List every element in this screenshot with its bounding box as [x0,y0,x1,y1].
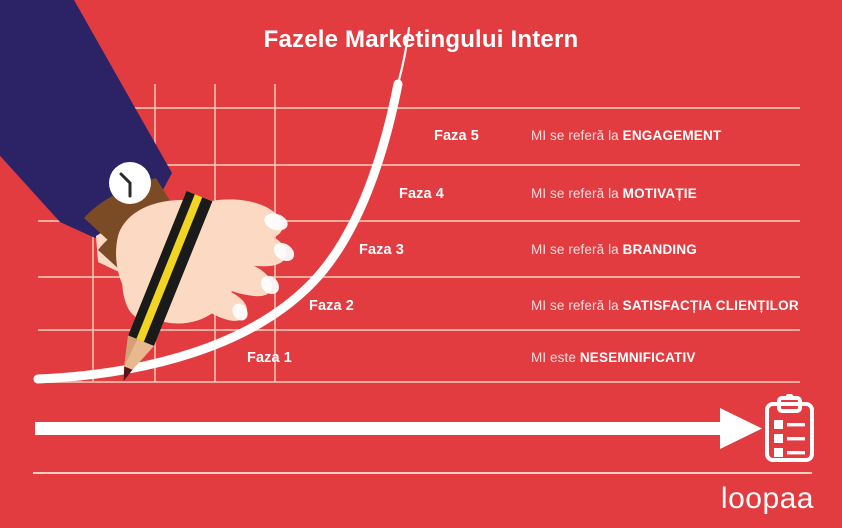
phase-description-1: MI este NESEMNIFICATIV [531,350,696,365]
phase-description-5: MI se referă la ENGAGEMENT [531,128,721,143]
infographic-canvas: Fazele Marketingului Intern Faza 5MI se … [0,0,842,528]
phase-description-4: MI se referă la MOTIVAȚIE [531,186,697,201]
phase-description-keyword-1: NESEMNIFICATIV [580,350,696,365]
illustration-layer [0,0,842,528]
phase-description-2: MI se referă la SATISFACȚIA CLIENȚILOR [531,298,799,313]
clipboard-rows [774,420,805,457]
phase-label-3: Faza 3 [359,242,404,258]
phase-label-4: Faza 4 [399,186,444,202]
page-title: Fazele Marketingului Intern [0,26,842,54]
phase-description-prefix-5: MI se referă la [531,128,623,143]
brand-logo: loopaa [721,484,814,514]
phase-description-prefix-4: MI se referă la [531,186,623,201]
phase-description-keyword-3: BRANDING [623,242,697,257]
phase-description-prefix-2: MI se referă la [531,298,623,313]
phase-description-3: MI se referă la BRANDING [531,242,697,257]
phase-description-keyword-5: ENGAGEMENT [623,128,722,143]
phase-description-keyword-4: MOTIVAȚIE [623,186,697,201]
phase-description-prefix-1: MI este [531,350,580,365]
phase-label-2: Faza 2 [309,298,354,314]
arrow-shaft [35,422,733,435]
phase-description-prefix-3: MI se referă la [531,242,623,257]
phase-description-keyword-2: SATISFACȚIA CLIENȚILOR [623,298,799,313]
phase-label-1: Faza 1 [247,350,292,366]
phase-label-5: Faza 5 [434,128,479,144]
